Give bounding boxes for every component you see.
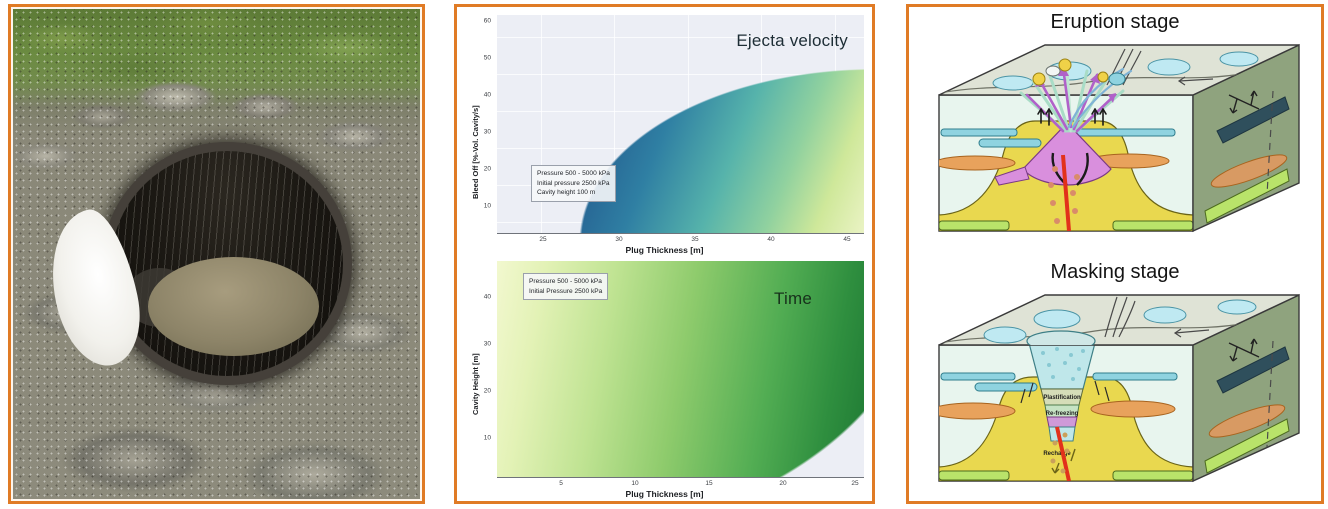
crater-shaft bbox=[111, 151, 343, 376]
thermokarst-lake-2 bbox=[993, 76, 1033, 90]
ytick-ejecta-10: 10 bbox=[475, 203, 491, 210]
time-annotation-box: Pressure 500 - 5000 kPa Initial Pressure… bbox=[523, 273, 608, 300]
label-refreezing: Re-freezing bbox=[1046, 411, 1079, 417]
xtick-time-5: 5 bbox=[559, 480, 563, 487]
thermokarst-lake-4 bbox=[1220, 52, 1258, 66]
x-axis-line-time bbox=[497, 477, 864, 478]
ice-lens-left-2 bbox=[975, 383, 1037, 391]
charts-panel: Ejecta velocity Pressure 500 - 5000 kPa … bbox=[454, 4, 875, 504]
diagram-eruption-stage: Eruption stage bbox=[909, 9, 1321, 257]
diagram-masking-stage: Masking stage bbox=[909, 259, 1321, 505]
ytick-time-40: 40 bbox=[475, 294, 491, 301]
ytick-time-30: 30 bbox=[475, 341, 491, 348]
xtick-ejecta-30: 30 bbox=[615, 236, 622, 243]
plot-area-ejecta: Ejecta velocity Pressure 500 - 5000 kPa … bbox=[497, 15, 864, 233]
yaxis-label-time: Cavity Height [m] bbox=[471, 353, 480, 415]
xtick-time-20: 20 bbox=[779, 480, 786, 487]
plot-area-time: Time Pressure 500 - 5000 kPa Initial Pre… bbox=[497, 261, 864, 477]
thermokarst-lake-1 bbox=[1034, 310, 1080, 328]
ice-lens-left bbox=[941, 373, 1015, 380]
yaxis-label-ejecta: Bleed Off [%-Vol. Cavity/s] bbox=[471, 105, 480, 199]
diagram-title-masking: Masking stage bbox=[909, 261, 1321, 284]
xtick-ejecta-40: 40 bbox=[767, 236, 774, 243]
label-plastification: Plastification bbox=[1043, 395, 1081, 401]
ice-lens-right bbox=[1077, 129, 1175, 136]
basal-layer-right bbox=[1113, 221, 1193, 230]
crater-photo-panel bbox=[8, 4, 425, 504]
xtick-ejecta-25: 25 bbox=[539, 236, 546, 243]
crater-photo bbox=[13, 9, 420, 499]
eruption-block-diagram bbox=[917, 35, 1319, 249]
chart-ejecta-velocity: Ejecta velocity Pressure 500 - 5000 kPa … bbox=[457, 9, 872, 255]
xtick-ejecta-45: 45 bbox=[843, 236, 850, 243]
sand-lens-left bbox=[931, 403, 1015, 419]
ytick-ejecta-50: 50 bbox=[475, 55, 491, 62]
sand-lens-right bbox=[1091, 401, 1175, 417]
thermokarst-lake-3 bbox=[1144, 307, 1186, 323]
crater-water-pool bbox=[148, 257, 320, 356]
chart-time: Time Pressure 500 - 5000 kPa Initial Pre… bbox=[457, 257, 872, 503]
diagrams-panel: Eruption stage bbox=[906, 4, 1324, 504]
ejecta-annotation-box: Pressure 500 - 5000 kPa Initial pressure… bbox=[531, 165, 616, 202]
masking-block-diagram: Plastification Re-freezing Recharge bbox=[917, 285, 1319, 499]
sand-lens-left bbox=[935, 156, 1015, 170]
crater-infill-lower bbox=[1049, 427, 1075, 441]
thermokarst-lake-3 bbox=[1148, 59, 1190, 75]
chart-title-time: Time bbox=[774, 289, 812, 309]
ytick-time-10: 10 bbox=[475, 435, 491, 442]
x-axis-line-ejecta bbox=[497, 233, 864, 234]
xtick-time-10: 10 bbox=[631, 480, 638, 487]
chart-title-ejecta: Ejecta velocity bbox=[736, 31, 848, 51]
ice-lens-left bbox=[941, 129, 1017, 136]
thermokarst-lake-4 bbox=[1218, 300, 1256, 314]
basal-layer-left bbox=[939, 471, 1009, 480]
xtick-time-25: 25 bbox=[851, 480, 858, 487]
crater-infill-upper bbox=[1029, 343, 1095, 389]
diagram-title-eruption: Eruption stage bbox=[909, 11, 1321, 34]
ice-lens-left-2 bbox=[979, 139, 1041, 147]
ice-lens-right bbox=[1093, 373, 1177, 380]
xaxis-label-time: Plug Thickness [m] bbox=[457, 489, 872, 499]
ytick-ejecta-60: 60 bbox=[475, 18, 491, 25]
basal-layer-left bbox=[939, 221, 1009, 230]
ytick-ejecta-40: 40 bbox=[475, 92, 491, 99]
xaxis-label-ejecta: Plug Thickness [m] bbox=[457, 245, 872, 255]
xtick-time-15: 15 bbox=[705, 480, 712, 487]
thermokarst-lake-2 bbox=[984, 327, 1026, 343]
xtick-ejecta-35: 35 bbox=[691, 236, 698, 243]
residual-cavity bbox=[1047, 417, 1077, 427]
basal-layer-right bbox=[1113, 471, 1193, 480]
figure-root: Ejecta velocity Pressure 500 - 5000 kPa … bbox=[0, 0, 1328, 509]
